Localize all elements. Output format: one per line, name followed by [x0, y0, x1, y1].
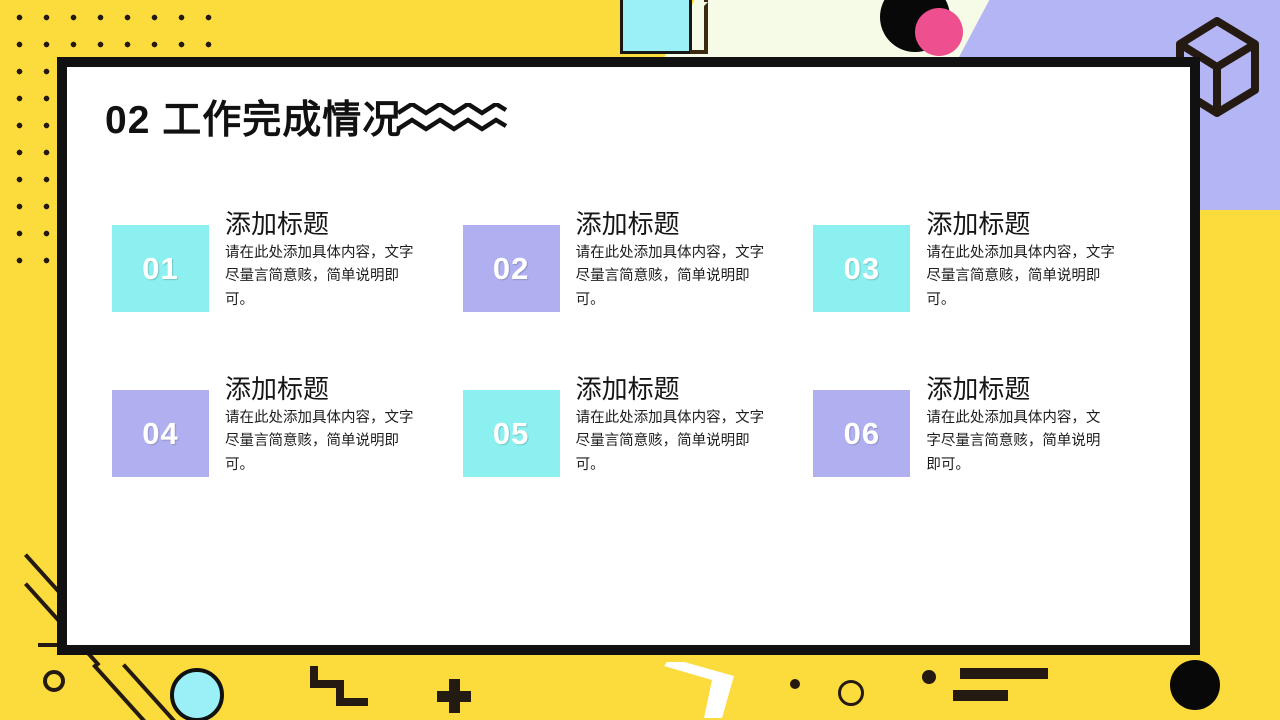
small-dot-icon	[790, 679, 800, 689]
item-text-group: 添加标题 请在此处添加具体内容，文字尽量言简意赅，简单说明即可。	[926, 207, 1122, 312]
item-number-box: 02	[463, 225, 560, 312]
item-body: 请在此处添加具体内容，文字尽量言简意赅，简单说明即可。	[576, 407, 772, 477]
content-card-border: 02 工作完成情况 01 添加标题 请在此处添加具体内容，文字尽量言简意赅，简单…	[57, 57, 1200, 655]
item-body: 请在此处添加具体内容，文字尽量言简意赅，简单说明即可。	[225, 242, 421, 312]
list-item[interactable]: 05 添加标题 请在此处添加具体内容，文字尽量言简意赅，简单说明即可。	[463, 372, 802, 477]
zigzag-lines-icon	[396, 103, 508, 137]
white-bent-shape-icon	[660, 662, 750, 720]
items-grid: 01 添加标题 请在此处添加具体内容，文字尽量言简意赅，简单说明即可。 02 添…	[112, 207, 1152, 477]
circle-outline-icon	[838, 680, 864, 706]
item-title: 添加标题	[576, 374, 772, 405]
item-title: 添加标题	[225, 209, 421, 240]
item-title: 添加标题	[926, 209, 1122, 240]
item-number: 02	[493, 251, 529, 287]
item-number-box: 03	[813, 225, 910, 312]
slide-canvas: 02 工作完成情况 01 添加标题 请在此处添加具体内容，文字尽量言简意赅，简单…	[0, 0, 1280, 720]
item-title: 添加标题	[926, 374, 1112, 405]
list-item[interactable]: 01 添加标题 请在此处添加具体内容，文字尽量言简意赅，简单说明即可。	[112, 207, 451, 312]
page-title-row: 02 工作完成情况	[105, 89, 508, 145]
page-title: 02 工作完成情况	[105, 89, 402, 145]
small-dot-icon	[922, 670, 936, 684]
item-number-box: 04	[112, 390, 209, 477]
item-title: 添加标题	[225, 374, 421, 405]
horizontal-bar-icon	[953, 690, 1008, 701]
item-number: 04	[142, 416, 178, 452]
content-card: 02 工作完成情况 01 添加标题 请在此处添加具体内容，文字尽量言简意赅，简单…	[67, 67, 1190, 645]
cyan-outlined-square-icon	[620, 0, 692, 54]
small-circle-outline-icon	[43, 670, 65, 692]
list-item[interactable]: 03 添加标题 请在此处添加具体内容，文字尽量言简意赅，简单说明即可。	[813, 207, 1152, 312]
list-item[interactable]: 04 添加标题 请在此处添加具体内容，文字尽量言简意赅，简单说明即可。	[112, 372, 451, 477]
item-text-group: 添加标题 请在此处添加具体内容，文字尽量言简意赅，简单说明即可。	[576, 372, 772, 477]
staircase-zigzag-icon	[310, 662, 380, 712]
item-body: 请在此处添加具体内容，文字尽量言简意赅，简单说明即可。	[576, 242, 772, 312]
list-item[interactable]: 06 添加标题 请在此处添加具体内容，文字尽量言简意赅，简单说明即可。	[813, 372, 1152, 477]
item-body: 请在此处添加具体内容，文字尽量言简意赅，简单说明即可。	[225, 407, 421, 477]
item-number-box: 06	[813, 390, 910, 477]
dashed-corner-bracket-icon	[690, 2, 708, 54]
item-number-box: 01	[112, 225, 209, 312]
item-text-group: 添加标题 请在此处添加具体内容，文字尽量言简意赅，简单说明即可。	[926, 372, 1112, 477]
horizontal-bar-icon	[960, 668, 1048, 679]
item-number: 03	[844, 251, 880, 287]
large-black-circle-icon	[1170, 660, 1220, 710]
item-number: 05	[493, 416, 529, 452]
plus-cross-icon	[437, 679, 471, 713]
item-text-group: 添加标题 请在此处添加具体内容，文字尽量言简意赅，简单说明即可。	[225, 372, 421, 477]
pink-circle-icon	[915, 8, 963, 56]
item-text-group: 添加标题 请在此处添加具体内容，文字尽量言简意赅，简单说明即可。	[225, 207, 421, 312]
item-body: 请在此处添加具体内容，文字尽量言简意赅，简单说明即可。	[926, 407, 1112, 477]
item-body: 请在此处添加具体内容，文字尽量言简意赅，简单说明即可。	[926, 242, 1122, 312]
item-number: 01	[142, 251, 178, 287]
cyan-circle-icon	[170, 668, 224, 720]
item-title: 添加标题	[576, 209, 772, 240]
item-number: 06	[844, 416, 880, 452]
list-item[interactable]: 02 添加标题 请在此处添加具体内容，文字尽量言简意赅，简单说明即可。	[463, 207, 802, 312]
item-text-group: 添加标题 请在此处添加具体内容，文字尽量言简意赅，简单说明即可。	[576, 207, 772, 312]
item-number-box: 05	[463, 390, 560, 477]
